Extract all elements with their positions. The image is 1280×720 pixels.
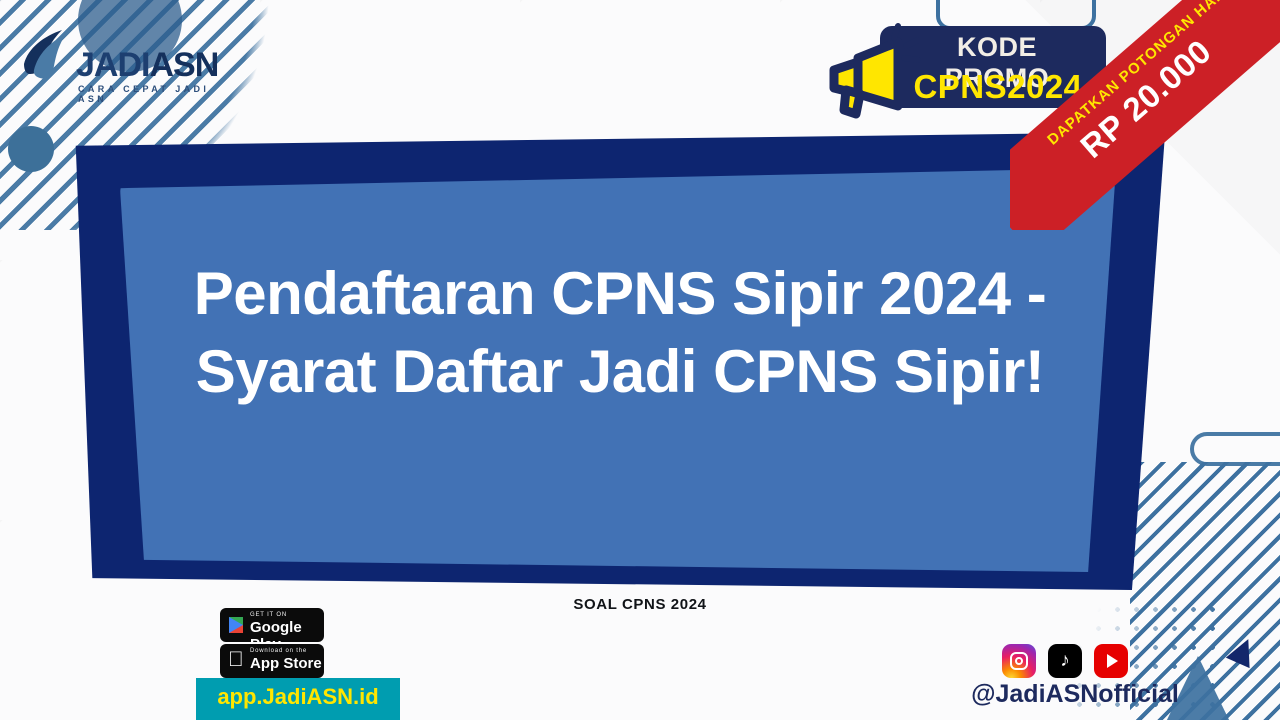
soal-label: SOAL CPNS 2024 (480, 596, 800, 613)
social-handle: @JadiASNofficial (930, 680, 1220, 709)
logo-tagline: CARA CEPAT JADI ASN (78, 84, 224, 104)
logo-jadi-text: JADI (76, 46, 149, 84)
app-store-small-text: Download on the (250, 648, 307, 654)
tiktok-glyph: ♪ (1048, 644, 1082, 678)
app-store-label: App Store (250, 655, 322, 672)
youtube-icon[interactable] (1094, 644, 1128, 678)
social-links: ♪ (1002, 644, 1142, 678)
headline-line-2: Syarat Daftar Jadi CPNS Sipir! (150, 333, 1090, 411)
device-mockup (0, 562, 212, 720)
google-play-small-text: GET IT ON (250, 612, 287, 618)
discount-ribbon: DAPATKAN POTONGAN HARGA RP 20.000 (1010, 0, 1280, 230)
decorative-pill-right (1190, 432, 1280, 466)
jadiasn-logo: JADIASN CARA CEPAT JADI ASN (14, 18, 224, 90)
instagram-icon[interactable] (1002, 644, 1036, 678)
headline-line-1: Pendaftaran CPNS Sipir 2024 - (150, 255, 1090, 333)
instagram-dot (1015, 657, 1023, 665)
apple-icon:  (228, 649, 244, 671)
app-store-button[interactable]:  Download on the App Store (220, 644, 324, 678)
tiktok-icon[interactable]: ♪ (1048, 644, 1082, 678)
logo-asn-text: ASN (149, 46, 218, 84)
page-title: Pendaftaran CPNS Sipir 2024 - Syarat Daf… (150, 255, 1090, 411)
decorative-circle-small (8, 126, 54, 172)
promo-banner: JADIASN CARA CEPAT JADI ASN Pendaftaran … (0, 0, 1280, 720)
logo-wordmark: JADIASN (76, 46, 218, 85)
google-play-button[interactable]: GET IT ON Google Play (220, 608, 324, 642)
app-url-text: app.JadiASN.id (196, 684, 400, 710)
youtube-play-triangle (1107, 654, 1118, 668)
google-play-icon (229, 617, 243, 633)
